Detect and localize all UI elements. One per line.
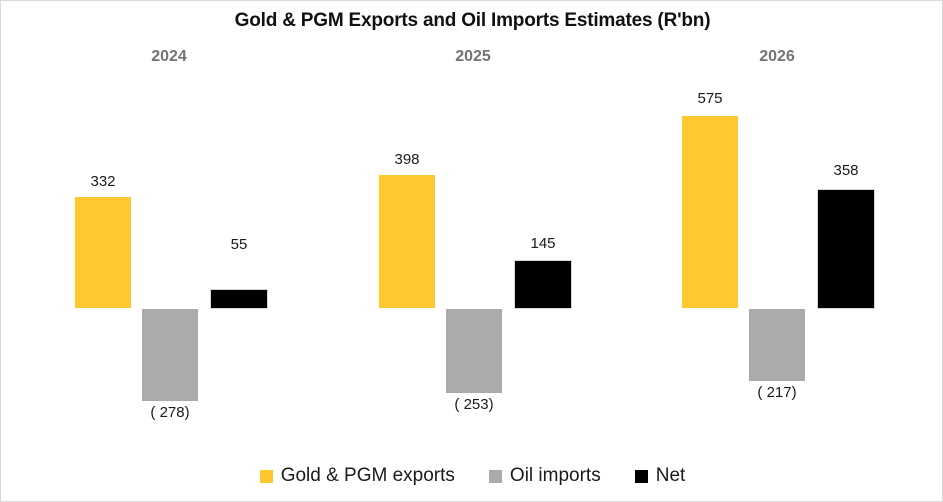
legend-item-0[interactable]: Gold & PGM exports (260, 465, 455, 487)
oil-swatch-icon (489, 470, 502, 483)
net-swatch-icon (635, 470, 648, 483)
bar-value-label-oil-imports-2026: ( 217) (717, 384, 837, 401)
bar-value-label-net-2026: 358 (786, 162, 906, 179)
group-label-2024: 2024 (109, 48, 229, 66)
bar-value-label-net-2025: 145 (483, 235, 603, 252)
bar-net-2024 (210, 289, 268, 309)
bar-value-label-oil-imports-2025: ( 253) (414, 396, 534, 413)
bar-gold-pgm-exports-2025 (379, 175, 435, 308)
bar-net-2025 (514, 260, 572, 309)
bar-value-label-gold-pgm-exports-2026: 575 (650, 90, 770, 107)
bar-value-label-oil-imports-2024: ( 278) (110, 404, 230, 421)
legend-label: Net (656, 465, 686, 487)
gold-swatch-icon (260, 470, 273, 483)
bar-value-label-gold-pgm-exports-2025: 398 (347, 151, 467, 168)
bar-oil-imports-2024 (142, 309, 198, 401)
bar-gold-pgm-exports-2026 (682, 116, 738, 308)
bar-net-2026 (817, 189, 875, 309)
bar-oil-imports-2026 (749, 309, 805, 381)
legend-label: Gold & PGM exports (281, 465, 455, 487)
group-label-2025: 2025 (413, 48, 533, 66)
chart-container: Gold & PGM Exports and Oil Imports Estim… (0, 0, 943, 502)
chart-legend: Gold & PGM exportsOil importsNet (1, 465, 943, 487)
bar-gold-pgm-exports-2024 (75, 197, 131, 308)
group-label-2026: 2026 (717, 48, 837, 66)
legend-item-2[interactable]: Net (635, 465, 686, 487)
legend-item-1[interactable]: Oil imports (489, 465, 601, 487)
bar-value-label-net-2024: 55 (179, 236, 299, 253)
legend-label: Oil imports (510, 465, 601, 487)
plot-area: 2024332( 278)552025398( 253)1452026575( … (1, 1, 943, 441)
bar-value-label-gold-pgm-exports-2024: 332 (43, 173, 163, 190)
bar-oil-imports-2025 (446, 309, 502, 393)
